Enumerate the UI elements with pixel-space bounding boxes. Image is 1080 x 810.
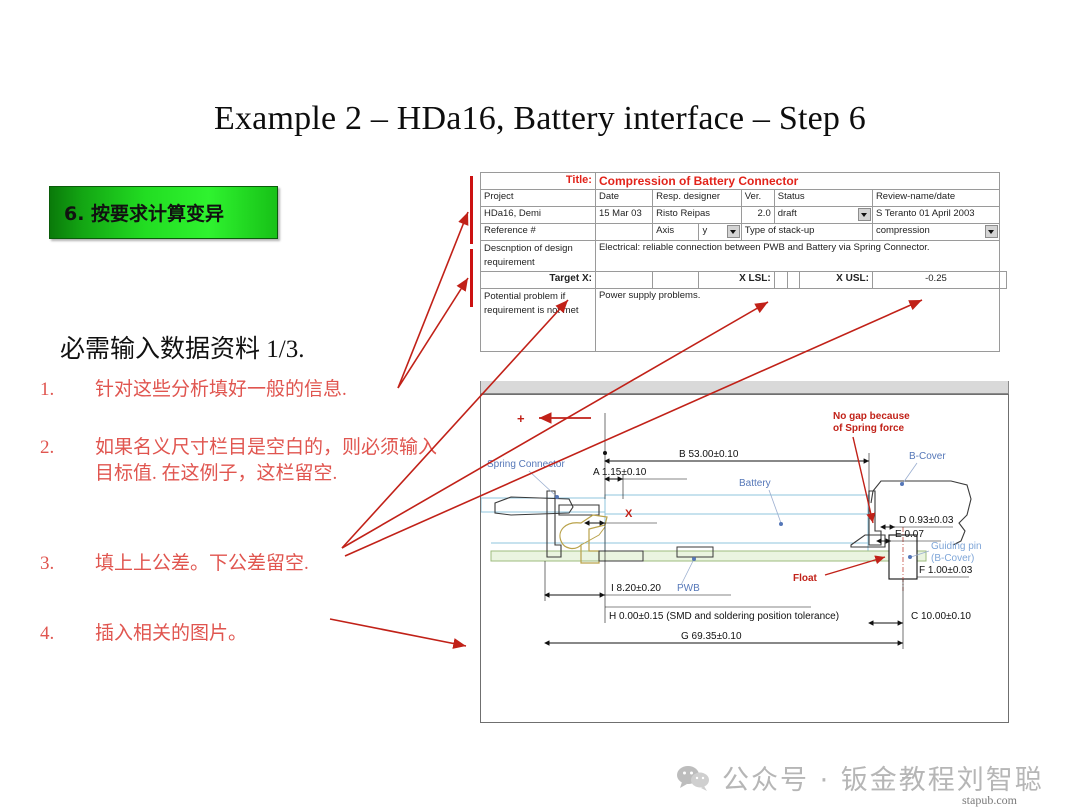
field-status-dropdown[interactable]: draft	[774, 207, 872, 224]
stackup-form-table: Title: Compression of Battery Connector …	[480, 172, 1007, 352]
title-label: Title:	[481, 173, 596, 190]
field-review[interactable]: S Teranto 01 April 2003	[872, 207, 999, 224]
table-row-values: HDa16, Demi 15 Mar 03 Risto Reipas 2.0 d…	[481, 207, 1007, 224]
table-row-description: Descnption of design requirement Electri…	[481, 241, 1007, 272]
watermark-text: 公众号 · 钣金教程刘智聪	[722, 758, 1044, 797]
x-marker-label: X	[625, 508, 633, 520]
table-row-headers: Project Date Resp. designer Ver. Status …	[481, 190, 1007, 207]
limits-spacer-2	[787, 271, 800, 288]
col-header-date: Date	[595, 190, 652, 207]
list-item-number: 4.	[40, 621, 80, 647]
red-marker-bar-top	[470, 176, 473, 244]
field-status-value: draft	[778, 208, 797, 219]
col-header-resp-designer: Resp. designer	[653, 190, 742, 207]
step-callout-label: 6. 按要求计算变异	[50, 199, 224, 226]
dimension-I: I 8.20±0.20	[611, 583, 661, 594]
list-item: 3. 填上上公差。下公差留空.	[40, 551, 440, 577]
col-header-potential-problem: Potential problem if requirement is not …	[481, 288, 596, 351]
field-axis-value: y	[702, 225, 707, 236]
limits-spacer-1	[653, 271, 699, 288]
col-header-reference: Reference #	[481, 224, 596, 241]
stackup-form: Title: Compression of Battery Connector …	[480, 172, 1007, 352]
dimension-A: A 1.15±0.10	[593, 467, 647, 478]
annotation-no-gap-line1: No gap because	[833, 411, 910, 422]
field-axis-dropdown[interactable]: y	[699, 224, 741, 241]
watermark: 公众号 · 钣金教程刘智聪	[676, 758, 1044, 797]
col-header-ver: Ver.	[741, 190, 774, 207]
red-marker-bar-bottom	[470, 249, 473, 307]
table-row-limits: Target X: X LSL: X USL: -0.25	[481, 271, 1007, 288]
col-header-review: Review-name/date	[872, 190, 999, 207]
form-separator-band	[480, 381, 1009, 394]
dimension-F: F 1.00±0.03	[919, 565, 973, 576]
dimension-H: H 0.00±0.15 (SMD and soldering position …	[609, 611, 839, 622]
label-guiding-pin: Guiding pin	[931, 541, 982, 552]
x-usl-input[interactable]: -0.25	[872, 271, 999, 288]
title-value: Compression of Battery Connector	[595, 173, 999, 190]
page-title: Example 2 – HDa16, Battery interface – S…	[0, 100, 1080, 138]
table-row-reference: Reference # Axis y Type of stack-up comp…	[481, 224, 1007, 241]
table-row-potential-problem: Potential problem if requirement is not …	[481, 288, 1007, 351]
field-potential-problem[interactable]: Power supply problems.	[595, 288, 999, 351]
field-description[interactable]: Electrical: reliable connection between …	[595, 241, 999, 272]
list-item-text: 如果名义尺寸栏目是空白的，则必须输入目标值. 在这例子，这栏留空.	[95, 435, 440, 487]
arrow-bullet1-to-description	[398, 278, 468, 388]
target-x-label: Target X:	[481, 271, 596, 288]
dimension-E: E 0.07	[895, 529, 924, 540]
list-item-text: 填上上公差。下公差留空.	[95, 551, 440, 577]
col-header-type-of-stackup: Type of stack-up	[741, 224, 872, 241]
x-lsl-label: X LSL:	[699, 271, 774, 288]
col-header-status: Status	[774, 190, 872, 207]
field-ver[interactable]: 2.0	[741, 207, 774, 224]
col-header-axis: Axis	[653, 224, 699, 241]
x-usl-label: X USL:	[800, 271, 873, 288]
step-callout-box: 6. 按要求计算变异	[49, 186, 278, 239]
lead-line: 必需输入数据资料 1/3.	[60, 329, 304, 365]
list-item: 4. 插入相关的图片。	[40, 621, 440, 647]
chevron-down-icon[interactable]	[985, 225, 998, 238]
label-pwb: PWB	[677, 583, 700, 594]
field-date[interactable]: 15 Mar 03	[595, 207, 652, 224]
label-guiding-pin-sub: (B-Cover)	[931, 553, 974, 564]
field-project[interactable]: HDa16, Demi	[481, 207, 596, 224]
field-type-of-stackup-dropdown[interactable]: compression	[872, 224, 999, 241]
field-resp-designer[interactable]: Risto Reipas	[653, 207, 742, 224]
annotation-float: Float	[793, 573, 818, 584]
target-x-input[interactable]	[595, 271, 652, 288]
field-reference[interactable]	[595, 224, 652, 241]
list-item: 1. 针对这些分析填好一般的信息.	[40, 377, 440, 403]
chevron-down-icon[interactable]	[858, 208, 871, 221]
list-item-text: 插入相关的图片。	[95, 621, 440, 647]
list-item-text: 针对这些分析填好一般的信息.	[95, 377, 440, 403]
dimension-G: G 69.35±0.10	[681, 631, 742, 642]
list-item-number: 1.	[40, 377, 80, 403]
dimension-C: C 10.00±0.10	[911, 611, 971, 622]
annotation-no-gap-line2: of Spring force	[833, 423, 905, 434]
arrow-bullet1-to-header	[398, 212, 468, 388]
site-url: stapub.com	[962, 793, 1017, 808]
wechat-icon	[676, 764, 710, 792]
label-b-cover: B-Cover	[909, 451, 946, 462]
dimension-B: B 53.00±0.10	[679, 449, 739, 460]
plus-marker-label: +	[517, 411, 525, 426]
technical-drawing-panel: B 53.00±0.10 A 1.15±0.10 X + I 8.20±0.20…	[480, 394, 1009, 723]
chevron-down-icon[interactable]	[727, 225, 740, 238]
list-item: 2. 如果名义尺寸栏目是空白的，则必须输入目标值. 在这例子，这栏留空.	[40, 435, 440, 487]
technical-drawing-svg: B 53.00±0.10 A 1.15±0.10 X + I 8.20±0.20…	[481, 395, 1008, 722]
limits-spacer-3	[999, 271, 1006, 288]
list-item-number: 3.	[40, 551, 80, 577]
col-header-description: Descnption of design requirement	[481, 241, 596, 272]
label-spring-connector: Spring Connector	[487, 459, 565, 470]
label-battery: Battery	[739, 478, 771, 489]
x-lsl-input[interactable]	[774, 271, 787, 288]
list-item-number: 2.	[40, 435, 80, 461]
field-type-of-stackup-value: compression	[876, 225, 930, 236]
table-row-title: Title: Compression of Battery Connector	[481, 173, 1007, 190]
dimension-D: D 0.93±0.03	[899, 515, 954, 526]
col-header-project: Project	[481, 190, 596, 207]
